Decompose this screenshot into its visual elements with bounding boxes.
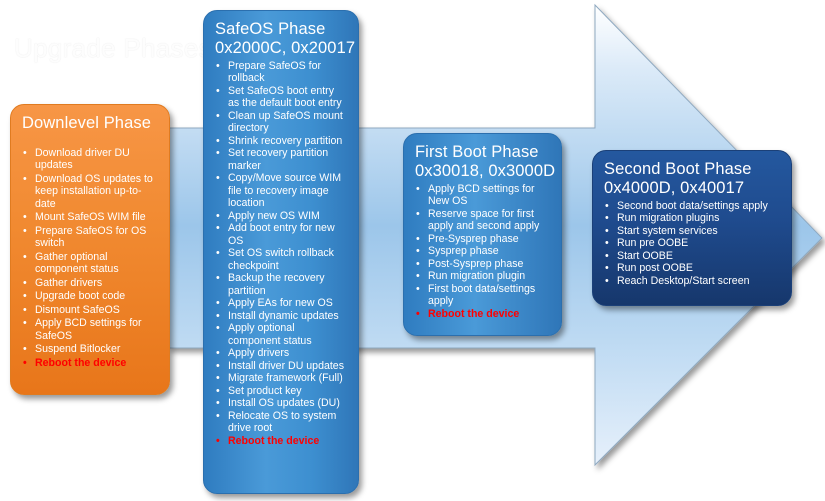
bullet-icon: • — [216, 135, 220, 148]
phase-step: •Reboot the device — [415, 308, 551, 321]
phase-step-label: Run post OOBE — [617, 262, 693, 274]
phase-step-label: Clean up SafeOS mount directory — [228, 110, 343, 135]
phase-step-label: Pre-Sysprep phase — [428, 233, 519, 245]
phase-step-label: Reboot the device — [35, 357, 126, 369]
phase-steps-downlevel: •Download driver DU updates•Download OS … — [22, 147, 159, 370]
phase-step-label: Shrink recovery partition — [228, 135, 342, 147]
phase-step-label: First boot data/settings apply — [428, 283, 535, 308]
phase-step: •Run migration plugin — [415, 270, 551, 283]
phase-card-downlevel[interactable]: Downlevel Phase •Download driver DU upda… — [10, 104, 170, 395]
bullet-icon: • — [216, 222, 220, 235]
phase-card-secondboot[interactable]: Second Boot Phase 0x4000D, 0x40017 •Seco… — [592, 150, 792, 306]
phase-step: •Set recovery partition marker — [215, 147, 348, 172]
bullet-icon: • — [605, 250, 609, 263]
phase-step-label: Reboot the device — [428, 308, 519, 320]
bullet-icon: • — [23, 173, 27, 186]
phase-step-label: Post-Sysprep phase — [428, 258, 523, 270]
phase-step: •Run post OOBE — [604, 262, 781, 275]
phase-card-firstboot[interactable]: First Boot Phase 0x30018, 0x3000D •Apply… — [403, 133, 562, 336]
phase-step: •Dismount SafeOS — [22, 304, 159, 317]
phase-step-label: Reach Desktop/Start screen — [617, 275, 749, 287]
bullet-icon: • — [216, 172, 220, 185]
phase-step: •Suspend Bitlocker — [22, 343, 159, 356]
phase-step: •Upgrade boot code — [22, 290, 159, 303]
phase-steps-firstboot: •Apply BCD settings for New OS•Reserve s… — [415, 183, 551, 321]
phase-step: •Apply EAs for new OS — [215, 297, 348, 310]
phase-step-label: Gather optional component status — [35, 251, 119, 276]
phase-step: •Run pre OOBE — [604, 237, 781, 250]
phase-step: •Set product key — [215, 385, 348, 398]
phase-step: •Mount SafeOS WIM file — [22, 211, 159, 224]
bullet-icon: • — [216, 385, 220, 398]
phase-step: •Reboot the device — [22, 357, 159, 370]
bullet-icon: • — [216, 272, 220, 285]
phase-step-label: Apply optional component status — [228, 322, 312, 347]
phase-step: •Download driver DU updates — [22, 147, 159, 172]
phase-step-label: Backup the recovery partition — [228, 272, 325, 297]
phase-step: •Set SafeOS boot entry as the default bo… — [215, 85, 348, 110]
phase-step: •Apply drivers — [215, 347, 348, 360]
bullet-icon: • — [216, 410, 220, 423]
bullet-icon: • — [23, 147, 27, 160]
phase-step: •Apply new OS WIM — [215, 210, 348, 223]
phase-step: •Install OS updates (DU) — [215, 397, 348, 410]
phase-steps-secondboot: •Second boot data/settings apply•Run mig… — [604, 200, 781, 288]
phase-step: •Shrink recovery partition — [215, 135, 348, 148]
phase-step-label: Relocate OS to system drive root — [228, 410, 336, 435]
diagram-canvas: Upgrade Phases — [0, 0, 825, 501]
phase-step: •Apply optional component status — [215, 322, 348, 347]
bullet-icon: • — [605, 212, 609, 225]
phase-step: •Clean up SafeOS mount directory — [215, 110, 348, 135]
phase-title-downlevel: Downlevel Phase — [22, 114, 159, 133]
phase-step: •Relocate OS to system drive root — [215, 410, 348, 435]
bullet-icon: • — [23, 290, 27, 303]
phase-step: •Prepare SafeOS for rollback — [215, 60, 348, 85]
phase-step-label: Copy/Move source WIM file to recovery im… — [228, 172, 341, 209]
phase-step: •Run migration plugins — [604, 212, 781, 225]
bullet-icon: • — [216, 435, 220, 448]
phase-step: •Start system services — [604, 225, 781, 238]
phase-step-label: Apply BCD settings for New OS — [428, 183, 535, 208]
phase-title-secondboot: Second Boot Phase 0x4000D, 0x40017 — [604, 160, 781, 198]
phase-step-label: Suspend Bitlocker — [35, 343, 120, 355]
phase-step: •Pre-Sysprep phase — [415, 233, 551, 246]
phase-step-label: Download OS updates to keep installation… — [35, 173, 153, 210]
bullet-icon: • — [23, 277, 27, 290]
phase-card-safeos[interactable]: SafeOS Phase 0x2000C, 0x20017 •Prepare S… — [203, 10, 359, 494]
bullet-icon: • — [216, 85, 220, 98]
phase-step: •Apply BCD settings for SafeOS — [22, 317, 159, 342]
bullet-icon: • — [23, 304, 27, 317]
phase-step-label: Sysprep phase — [428, 245, 499, 257]
phase-step-label: Apply BCD settings for SafeOS — [35, 317, 142, 342]
bullet-icon: • — [23, 225, 27, 238]
bullet-icon: • — [216, 247, 220, 260]
phase-step: •Reach Desktop/Start screen — [604, 275, 781, 288]
phase-step-label: Mount SafeOS WIM file — [35, 211, 146, 223]
phase-step: •Gather optional component status — [22, 251, 159, 276]
phase-step-label: Apply new OS WIM — [228, 210, 320, 222]
phase-step-label: Apply EAs for new OS — [228, 297, 333, 309]
bullet-icon: • — [416, 233, 420, 246]
phase-step: •Start OOBE — [604, 250, 781, 263]
phase-step-label: Start OOBE — [617, 250, 673, 262]
phase-step: •Install driver DU updates — [215, 360, 348, 373]
phase-step-label: Run pre OOBE — [617, 237, 688, 249]
bullet-icon: • — [216, 397, 220, 410]
phase-step: •Set OS switch rollback checkpoint — [215, 247, 348, 272]
phase-step-label: Reserve space for first apply and second… — [428, 208, 539, 233]
bullet-icon: • — [416, 283, 420, 296]
phase-step-label: Install dynamic updates — [228, 310, 339, 322]
bullet-icon: • — [605, 275, 609, 288]
bullet-icon: • — [216, 310, 220, 323]
phase-step-label: Run migration plugin — [428, 270, 525, 282]
phase-step-label: Set OS switch rollback checkpoint — [228, 247, 334, 272]
phase-step-label: Run migration plugins — [617, 212, 719, 224]
bullet-icon: • — [605, 225, 609, 238]
bullet-icon: • — [23, 211, 27, 224]
bullet-icon: • — [216, 322, 220, 335]
phase-step: •Install dynamic updates — [215, 310, 348, 323]
bullet-icon: • — [23, 343, 27, 356]
phase-step: •Add boot entry for new OS — [215, 222, 348, 247]
phase-codes-text: 0x4000D, 0x40017 — [604, 179, 781, 198]
bullet-icon: • — [216, 110, 220, 123]
phase-title-text: SafeOS Phase — [215, 20, 325, 38]
phase-title-text: Downlevel Phase — [22, 114, 151, 132]
phase-step: •Migrate framework (Full) — [215, 372, 348, 385]
phase-title-text: Second Boot Phase — [604, 160, 752, 178]
phase-step-label: Apply drivers — [228, 347, 289, 359]
phase-step: •Reserve space for first apply and secon… — [415, 208, 551, 233]
phase-step: •Second boot data/settings apply — [604, 200, 781, 213]
phase-step-label: Set recovery partition marker — [228, 147, 328, 172]
phase-step-label: Reboot the device — [228, 435, 319, 447]
bullet-icon: • — [416, 245, 420, 258]
phase-step-label: Add boot entry for new OS — [228, 222, 335, 247]
bullet-icon: • — [416, 208, 420, 221]
phase-codes-text: 0x30018, 0x3000D — [415, 162, 551, 181]
phase-step-label: Prepare SafeOS for rollback — [228, 60, 321, 85]
bullet-icon: • — [23, 251, 27, 264]
phase-step-label: Download driver DU updates — [35, 147, 130, 172]
phase-step-label: Install OS updates (DU) — [228, 397, 340, 409]
bullet-icon: • — [216, 210, 220, 223]
phase-step: •Prepare SafeOS for OS switch — [22, 225, 159, 250]
bullet-icon: • — [216, 372, 220, 385]
phase-codes-text: 0x2000C, 0x20017 — [215, 39, 348, 58]
phase-title-safeos: SafeOS Phase 0x2000C, 0x20017 — [215, 20, 348, 58]
phase-title-firstboot: First Boot Phase 0x30018, 0x3000D — [415, 143, 551, 181]
phase-step-label: Gather drivers — [35, 277, 102, 289]
phase-step: •Sysprep phase — [415, 245, 551, 258]
phase-step: •Reboot the device — [215, 435, 348, 448]
phase-step: •Download OS updates to keep installatio… — [22, 173, 159, 211]
phase-step: •Post-Sysprep phase — [415, 258, 551, 271]
bullet-icon: • — [416, 308, 420, 321]
bullet-icon: • — [216, 360, 220, 373]
phase-step-label: Dismount SafeOS — [35, 304, 120, 316]
phase-step: •Apply BCD settings for New OS — [415, 183, 551, 208]
bullet-icon: • — [605, 200, 609, 213]
phase-step-label: Install driver DU updates — [228, 360, 344, 372]
bullet-icon: • — [605, 237, 609, 250]
phase-steps-safeos: •Prepare SafeOS for rollback•Set SafeOS … — [215, 60, 348, 448]
bullet-icon: • — [23, 357, 27, 370]
phase-title-text: First Boot Phase — [415, 143, 539, 161]
phase-step: •Backup the recovery partition — [215, 272, 348, 297]
phase-step: •Copy/Move source WIM file to recovery i… — [215, 172, 348, 210]
phase-step-label: Migrate framework (Full) — [228, 372, 343, 384]
phase-step: •First boot data/settings apply — [415, 283, 551, 308]
phase-step-label: Upgrade boot code — [35, 290, 125, 302]
bullet-icon: • — [216, 60, 220, 73]
phase-step-label: Set product key — [228, 385, 302, 397]
phase-step-label: Start system services — [617, 225, 718, 237]
bullet-icon: • — [416, 270, 420, 283]
bullet-icon: • — [216, 347, 220, 360]
bullet-icon: • — [216, 147, 220, 160]
phase-step-label: Prepare SafeOS for OS switch — [35, 225, 146, 250]
bullet-icon: • — [23, 317, 27, 330]
phase-step-label: Second boot data/settings apply — [617, 200, 768, 212]
bullet-icon: • — [416, 258, 420, 271]
phase-step-label: Set SafeOS boot entry as the default boo… — [228, 85, 342, 110]
phase-step: •Gather drivers — [22, 277, 159, 290]
bullet-icon: • — [605, 262, 609, 275]
bullet-icon: • — [416, 183, 420, 196]
bullet-icon: • — [216, 297, 220, 310]
